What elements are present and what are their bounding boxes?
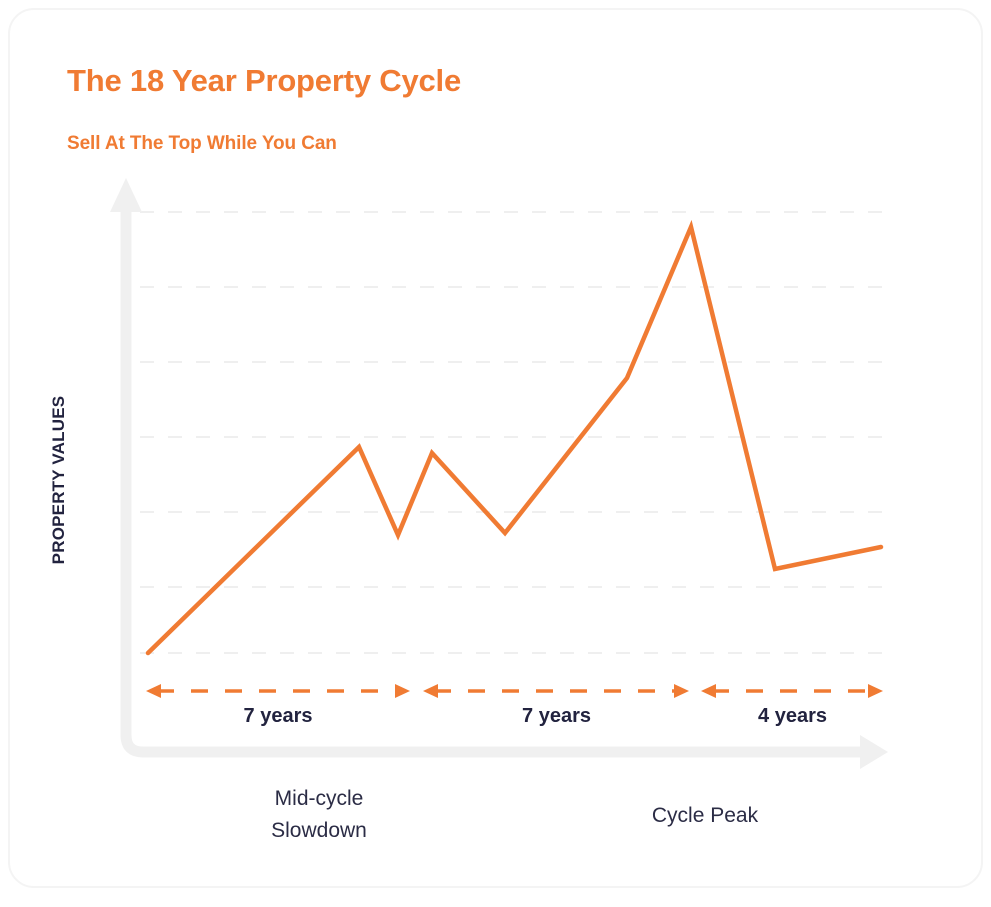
arrow-left-icon <box>701 684 716 698</box>
property-value-line-series <box>148 227 881 653</box>
arrow-left-icon <box>423 684 438 698</box>
annotation-cycle-peak: Cycle Peak <box>605 800 805 832</box>
span-arrow-0 <box>146 684 410 698</box>
span-arrow-1 <box>423 684 689 698</box>
arrow-right-icon <box>674 684 689 698</box>
annotation-mid-cycle-slowdown: Mid-cycle Slowdown <box>219 783 419 847</box>
span-arrow-2 <box>701 684 883 698</box>
arrow-right-icon <box>868 684 883 698</box>
gridlines <box>140 212 890 653</box>
y-axis-arrowhead-icon <box>110 178 142 212</box>
line-path <box>148 227 881 653</box>
span-label-first-7-years: 7 years <box>152 705 404 728</box>
axis-lines <box>110 178 888 769</box>
x-axis-arrowhead-icon <box>860 735 888 769</box>
chart-plot-area <box>0 0 991 907</box>
span-label-4-years: 4 years <box>705 705 880 728</box>
span-label-second-7-years: 7 years <box>430 705 683 728</box>
axis-corner-line <box>126 200 866 752</box>
arrow-right-icon <box>395 684 410 698</box>
arrow-left-icon <box>146 684 161 698</box>
